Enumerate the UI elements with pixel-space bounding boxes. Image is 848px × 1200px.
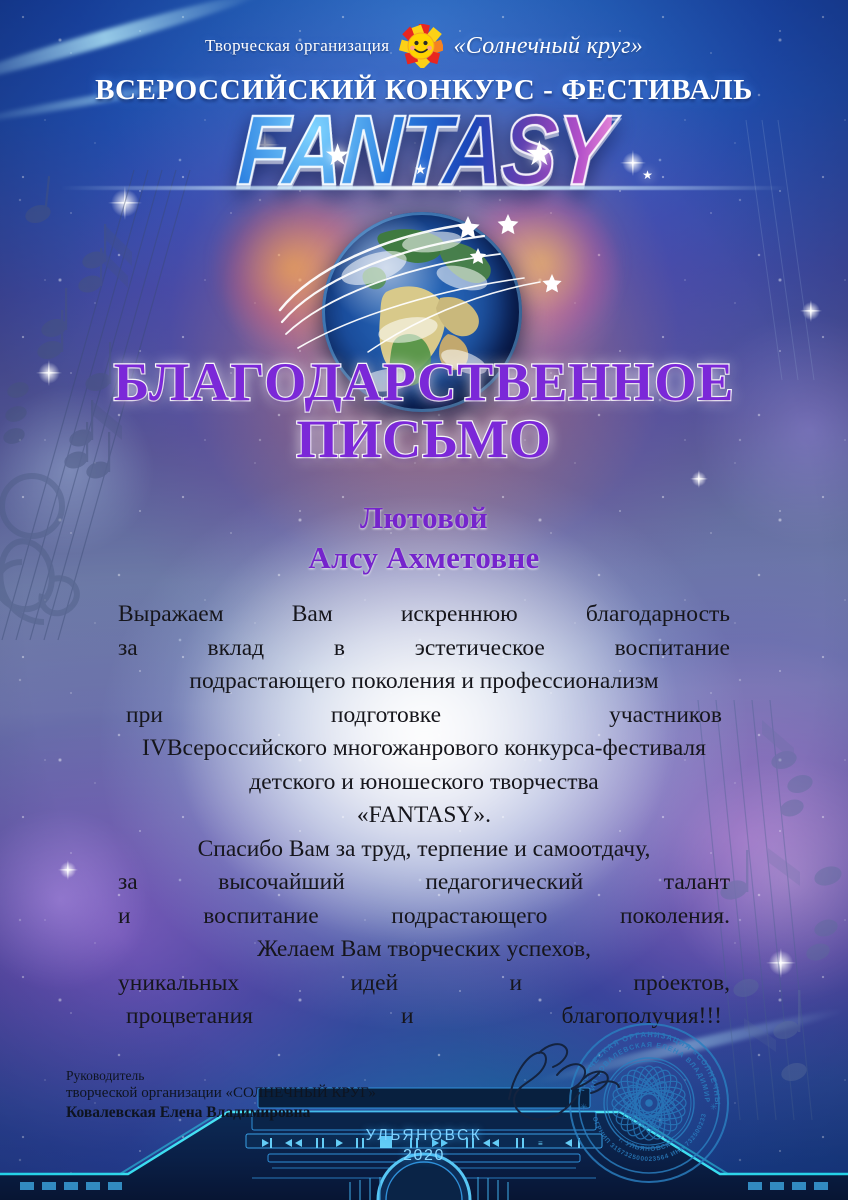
body-line: подрастающего поколения и профессионализ… bbox=[112, 665, 736, 699]
body-word: Вам bbox=[292, 598, 333, 632]
body-word: за bbox=[118, 866, 138, 900]
body-word: и bbox=[401, 1000, 414, 1034]
body-line: завкладвэстетическоевоспитание bbox=[112, 632, 736, 666]
body-word: за bbox=[118, 632, 138, 666]
body-word: подготовке bbox=[331, 699, 441, 733]
body-word: Выражаем bbox=[118, 598, 224, 632]
body-word: идей bbox=[351, 967, 399, 1001]
body-word: педагогический bbox=[425, 866, 583, 900]
body-word: высочайший bbox=[218, 866, 345, 900]
body-line: ВыражаемВамискреннююблагодарность bbox=[112, 598, 736, 632]
svg-text:✳: ✳ bbox=[580, 1102, 588, 1112]
body-word: воспитание bbox=[203, 900, 318, 934]
body-word: проектов, bbox=[633, 967, 730, 1001]
body-line: завысочайшийпедагогическийталант bbox=[112, 866, 736, 900]
body-word: и bbox=[118, 900, 131, 934]
fantasy-logo-underline bbox=[60, 186, 788, 190]
recipient-given-name: Алсу Ахметовне bbox=[0, 538, 848, 578]
body-word: при bbox=[126, 699, 163, 733]
fantasy-logo: FANTASY ★ ★ ★ ★ bbox=[0, 104, 848, 196]
footer-year: 2020 bbox=[0, 1147, 848, 1165]
body-word: уникальных bbox=[118, 967, 239, 1001]
star-icon: ★ bbox=[642, 168, 653, 183]
organization-header: Творческая организация bbox=[0, 24, 848, 68]
award-title-line-1: БЛАГОДАРСТВЕННОЕ bbox=[114, 352, 735, 412]
signer-name: Ковалевская Елена Владимировна bbox=[66, 1103, 376, 1123]
signer-role-line-1: Руководитель bbox=[66, 1068, 376, 1084]
org-name-text: «Солнечный круг» bbox=[453, 33, 643, 60]
body-word: искреннюю bbox=[401, 598, 518, 632]
body-word: талант bbox=[664, 866, 730, 900]
body-word: участников bbox=[609, 699, 722, 733]
body-line: ивоспитаниеподрастающегопоколения. bbox=[112, 900, 736, 934]
org-prefix-text: Творческая организация bbox=[205, 36, 390, 56]
page-title: БЛАГОДАРСТВЕННОЕ ПИСЬМО bbox=[0, 356, 848, 466]
sun-smiling-icon bbox=[399, 24, 443, 68]
recipient-surname: Лютовой bbox=[0, 498, 848, 538]
body-word: вклад bbox=[207, 632, 264, 666]
body-line: «FANTASY». bbox=[112, 799, 736, 833]
body-word: процветания bbox=[126, 1000, 253, 1034]
body-text: ВыражаемВамискреннююблагодарностьзавклад… bbox=[112, 598, 736, 1034]
body-line: Желаем Вам творческих успехов, bbox=[112, 933, 736, 967]
body-word: подрастающего bbox=[391, 900, 547, 934]
body-line: IVВсероссийского многожанрового конкурса… bbox=[112, 732, 736, 766]
body-line: уникальныхидейипроектов, bbox=[112, 967, 736, 1001]
signature-block: Руководитель творческой организации «СОЛ… bbox=[66, 1068, 376, 1123]
body-word: и bbox=[509, 967, 522, 1001]
body-line: приподготовкеучастников bbox=[112, 699, 736, 733]
body-line: детского и юношеского творчества bbox=[112, 766, 736, 800]
fantasy-logo-text: FANTASY bbox=[235, 100, 613, 199]
certificate-page: Творческая организация bbox=[0, 0, 848, 1200]
body-word: воспитание bbox=[615, 632, 730, 666]
award-title-line-2: ПИСЬМО bbox=[0, 413, 848, 466]
body-word: эстетическое bbox=[415, 632, 545, 666]
svg-text:✳: ✳ bbox=[710, 1102, 718, 1112]
recipient-name: Лютовой Алсу Ахметовне bbox=[0, 498, 848, 577]
body-word: благодарность bbox=[586, 598, 730, 632]
footer-city: УЛЬЯНОВСК bbox=[0, 1127, 848, 1145]
body-line: Спасибо Вам за труд, терпение и самоотда… bbox=[112, 833, 736, 867]
body-word: поколения. bbox=[620, 900, 730, 934]
body-word: в bbox=[334, 632, 345, 666]
signer-role-line-2: творческой организации «СОЛНЕЧНЫЙ КРУГ» bbox=[66, 1084, 376, 1103]
